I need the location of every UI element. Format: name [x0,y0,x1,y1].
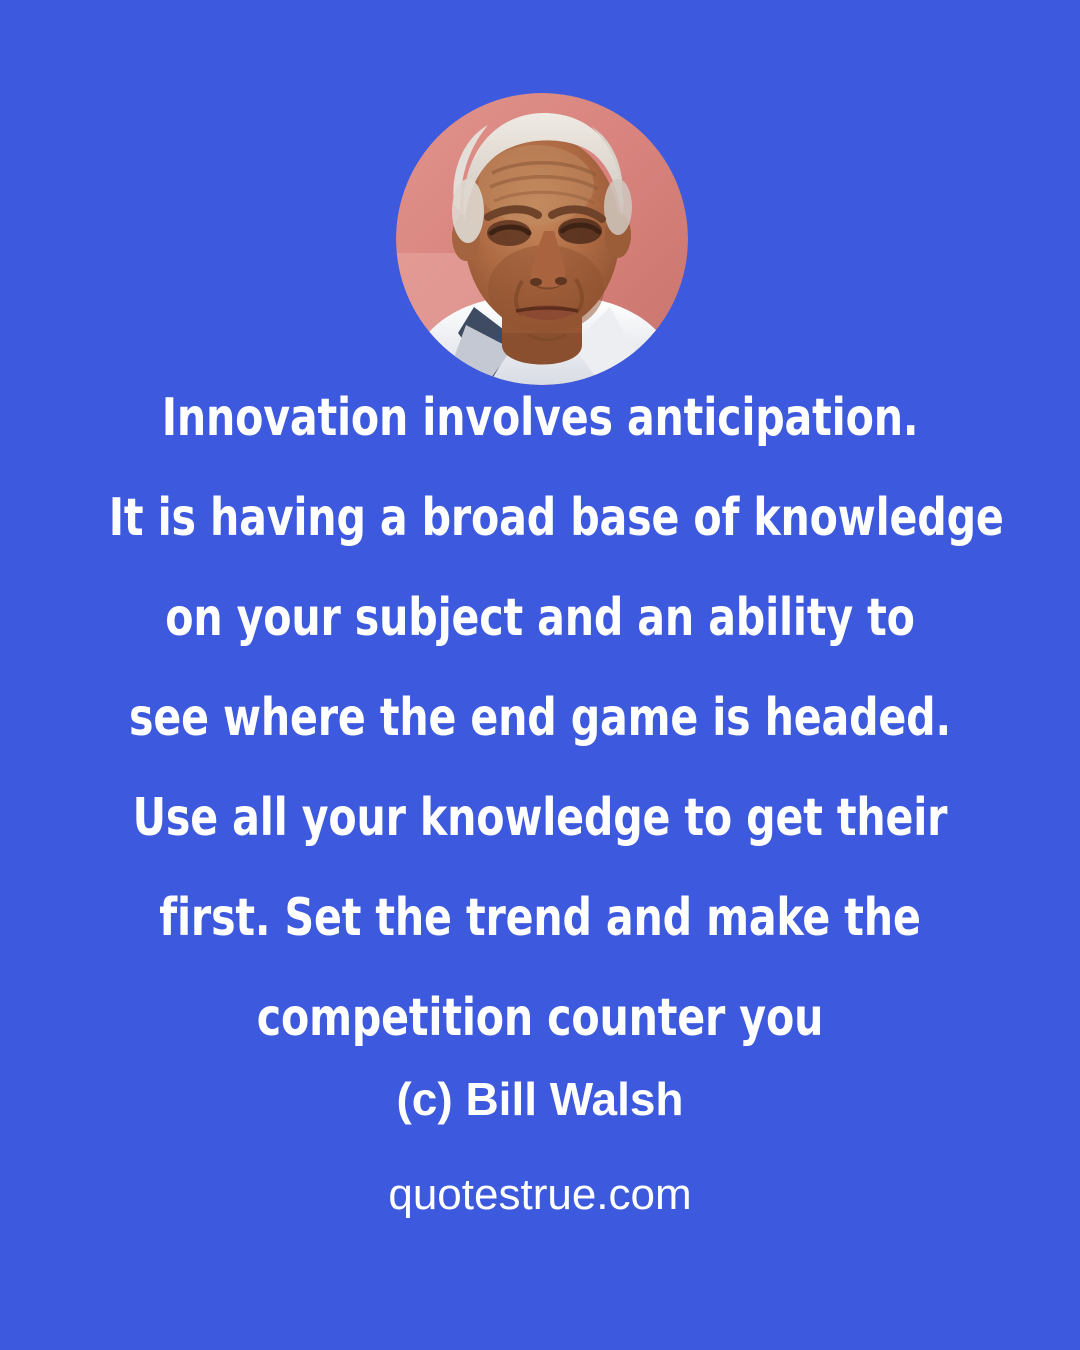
quote-line: see where the end game is headed. [109,668,971,768]
source-website: quotestrue.com [0,1166,1080,1224]
author-avatar [396,93,688,385]
quote-text: Innovation involves anticipation. It is … [0,368,1080,1068]
quote-line: competition counter you [109,968,971,1068]
quote-attribution: (c) Bill Walsh [0,1068,1080,1130]
quote-line: It is having a broad base of knowledge [109,468,971,568]
quote-card: Innovation involves anticipation. It is … [0,0,1080,1350]
quote-line: first. Set the trend and make the [109,868,971,968]
author-portrait-image [396,93,688,385]
quote-line: on your subject and an ability to [109,568,971,668]
quote-line: Use all your knowledge to get their [109,768,971,868]
quote-line: Innovation involves anticipation. [109,368,971,468]
